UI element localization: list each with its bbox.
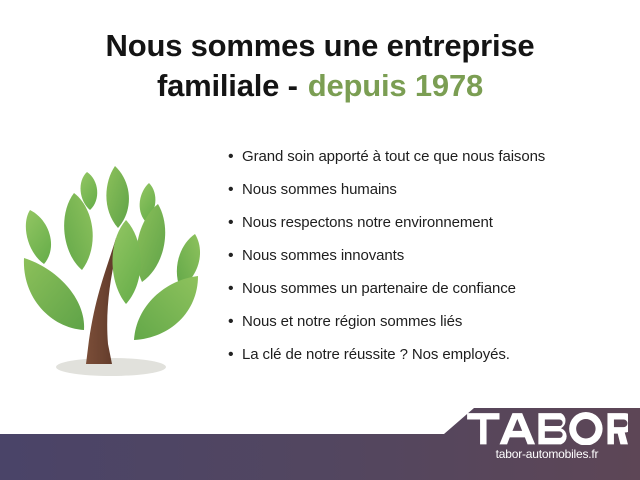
title-line-2-main: familiale - [157,68,298,103]
slide-canvas: Nous sommes une entreprise familiale -de… [0,0,640,480]
title-line-1: Nous sommes une entreprise [0,26,640,66]
bullet-icon: • [228,248,242,264]
list-item: • Nous et notre région sommes liés [228,313,628,346]
list-item: • Nous respectons notre environnement [228,214,628,247]
tree-illustration [8,148,223,393]
list-item: • Grand soin apporté à tout ce que nous … [228,148,628,181]
title-line-2: familiale -depuis 1978 [0,66,640,106]
benefits-list: • Grand soin apporté à tout ce que nous … [228,148,628,379]
list-item-label: Nous sommes innovants [242,247,628,264]
page-title: Nous sommes une entreprise familiale -de… [0,26,640,105]
bullet-icon: • [228,281,242,297]
list-item: • Nous sommes humains [228,181,628,214]
list-item: • La clé de notre réussite ? Nos employé… [228,346,628,379]
list-item: • Nous sommes un partenaire de confiance [228,280,628,313]
brand-logo[interactable]: tabor-automobiles.fr [466,412,628,461]
bullet-icon: • [228,347,242,363]
list-item-label: Nous respectons notre environnement [242,214,628,231]
list-item-label: La clé de notre réussite ? Nos employés. [242,346,628,363]
title-accent-year: depuis 1978 [308,68,483,103]
list-item-label: Nous et notre région sommes liés [242,313,628,330]
bullet-icon: • [228,149,242,165]
bullet-icon: • [228,215,242,231]
logo-website-label[interactable]: tabor-automobiles.fr [466,447,628,461]
list-item-label: Grand soin apporté à tout ce que nous fa… [242,148,628,165]
bullet-icon: • [228,182,242,198]
logo-wordmark-tabor [466,412,628,445]
list-item: • Nous sommes innovants [228,247,628,280]
list-item-label: Nous sommes un partenaire de confiance [242,280,628,297]
bullet-icon: • [228,314,242,330]
list-item-label: Nous sommes humains [242,181,628,198]
